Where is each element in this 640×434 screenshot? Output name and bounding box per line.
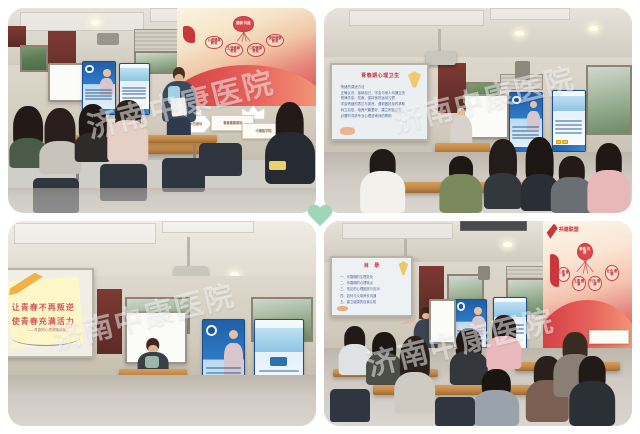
window-blind — [134, 29, 183, 54]
classroom-scene-3: 让青春不再叛逆 使青春充满活力 ——青春期心理健康讲座 — [8, 221, 316, 426]
classroom-scene-2: 青春期心理卫生 情绪的调适方法 正确认识、接纳自己，学会与他人沟通交流 规律作息… — [324, 8, 632, 213]
attendee — [487, 315, 521, 368]
photo-collage: 健康 共建 心理健康 教育 生殖健康 教育 口腔健康 教育 营养健康 教育 示范… — [0, 0, 640, 434]
mural-node: 社会 健康 — [605, 265, 618, 280]
attendee — [484, 139, 521, 209]
wall-mural: 健康 共建 心理健康 教育 生殖健康 教育 口腔健康 教育 营养健康 教育 — [177, 8, 316, 106]
heart-ornament — [307, 205, 333, 229]
slide-title-line2: 使青春充满活力 — [12, 316, 85, 327]
banner-portrait — [229, 330, 239, 340]
slide-decor — [340, 127, 355, 134]
mural-brush-stroke — [545, 224, 558, 239]
wall-speaker — [478, 266, 490, 280]
mural-node: 生殖健康 教育 — [225, 43, 243, 57]
slide-decor — [337, 306, 348, 311]
photo-top-left[interactable]: 健康 共建 心理健康 教育 生殖健康 教育 口腔健康 教育 营养健康 教育 示范… — [8, 8, 316, 213]
mural-node: 行为 健康 — [588, 276, 601, 291]
wall-speaker — [515, 61, 530, 79]
slide-body: 情绪的调适方法 正确认识、接纳自己，学会与他人沟通交流 规律作息、饮食，保持良好… — [341, 85, 419, 121]
banner-portrait-body — [224, 343, 242, 374]
attendee — [110, 100, 147, 162]
window — [20, 45, 48, 72]
ceiling-panel — [14, 223, 156, 244]
projector-arm — [187, 237, 190, 268]
ceiling-panel — [342, 223, 453, 239]
attendee — [475, 369, 518, 426]
floor — [8, 188, 316, 213]
banner-seal-icon — [206, 325, 217, 336]
banner-seal-icon — [457, 302, 465, 310]
slide-heading: 目 录 — [338, 262, 406, 269]
chair — [162, 158, 205, 193]
slide-body: 一、青春期的生理变化 二、青春期的心理特点 三、常见的心理困扰与应对 四、如何与… — [340, 274, 405, 305]
slide-subtitle: ——青春期心理健康讲座 — [27, 328, 85, 333]
mural-hub-node: 青春 共建 — [577, 243, 593, 261]
chair — [435, 397, 475, 426]
attendee — [441, 156, 481, 213]
attendee — [589, 143, 629, 213]
mural-flag — [183, 26, 195, 44]
banner-portrait — [530, 101, 537, 108]
chair — [330, 389, 370, 422]
window — [586, 65, 632, 135]
classroom-scene-4: 目 录 一、青春期的生理变化 二、青春期的心理特点 三、常见的心理困扰与应对 四… — [324, 221, 632, 426]
banner-portrait — [474, 307, 482, 315]
presenter — [162, 67, 196, 137]
photo-bottom-right[interactable]: 目 录 一、青春期的生理变化 二、青春期的心理特点 三、常见的心理困扰与应对 四… — [324, 221, 632, 426]
banner-seal-icon — [85, 65, 93, 73]
projector — [426, 51, 457, 65]
ceiling-vent — [460, 221, 528, 231]
banner-seascape — [553, 96, 585, 111]
banner-seascape — [120, 68, 149, 81]
downlight — [503, 242, 512, 247]
slide-title-line1: 让青春不再叛逆 — [12, 302, 85, 313]
attendee — [267, 102, 313, 184]
banner-title-block — [270, 357, 287, 365]
classroom-scene-1: 健康 共建 心理健康 教育 生殖健康 教育 口腔健康 教育 营养健康 教育 示范… — [8, 8, 316, 213]
banner-seascape — [255, 328, 302, 352]
projector-arm — [438, 29, 441, 54]
projection-screen: 让青春不再叛逆 使青春充满活力 ——青春期心理健康讲座 — [8, 268, 94, 358]
downlight — [515, 31, 524, 36]
mural-banner-title: 共建联盟 — [559, 226, 579, 233]
wood-wall — [8, 26, 26, 47]
attendee — [552, 156, 592, 213]
projection-screen: 目 录 一、青春期的生理变化 二、青春期的心理特点 三、常见的心理困扰与应对 四… — [330, 256, 413, 318]
chair — [199, 143, 242, 176]
mural-node: 口腔健康 教育 — [247, 43, 265, 57]
ceiling-panel — [490, 8, 570, 20]
mural-node: 心理健康 教育 — [205, 36, 223, 50]
banner-seal-icon — [512, 96, 520, 104]
attendee — [361, 149, 404, 213]
projection-screen: 青春期心理卫生 情绪的调适方法 正确认识、接纳自己，学会与他人沟通交流 规律作息… — [330, 63, 429, 141]
whiteboard — [48, 63, 85, 102]
ceiling-panel — [349, 10, 485, 26]
mural-node: 营养健康 教育 — [266, 34, 284, 48]
attendee — [42, 108, 79, 174]
photo-bottom-left[interactable]: 让青春不再叛逆 使青春充满活力 ——青春期心理健康讲座 — [8, 221, 316, 426]
mural-node: 生理 健康 — [572, 276, 585, 291]
mural-swoosh — [177, 65, 316, 106]
floor — [8, 375, 316, 426]
photo-top-right[interactable]: 青春期心理卫生 情绪的调适方法 正确认识、接纳自己，学会与他人沟通交流 规律作息… — [324, 8, 632, 213]
attendee — [395, 336, 435, 414]
mural-flag — [550, 254, 559, 287]
mural-node: 心理 健康 — [557, 267, 570, 282]
attendee — [570, 356, 613, 426]
wall-speaker — [97, 33, 119, 45]
ceiling-panel — [20, 12, 143, 30]
attendee — [76, 104, 110, 161]
banner-chip — [562, 140, 567, 144]
banner-portrait — [103, 69, 111, 77]
ceiling-panel — [162, 221, 254, 233]
wood-wall — [97, 289, 122, 355]
